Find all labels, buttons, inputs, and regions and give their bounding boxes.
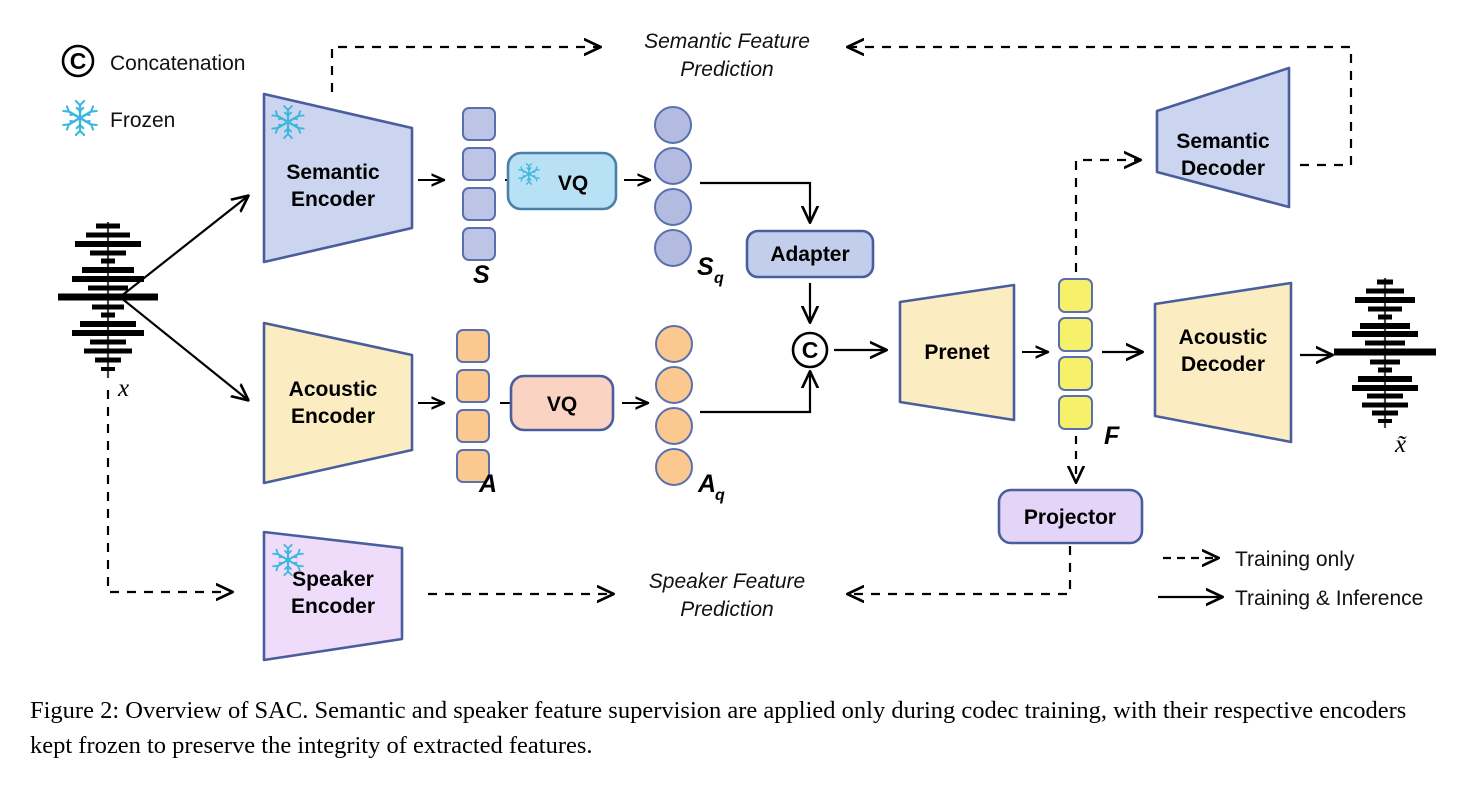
acoustic-encoder-shape[interactable] xyxy=(264,323,412,483)
prenet-block[interactable]: Prenet xyxy=(900,285,1014,420)
feature-token xyxy=(655,107,691,143)
training-only-label: Training only xyxy=(1235,548,1355,571)
semantic-feature-prediction-line1: Semantic Feature xyxy=(644,30,810,53)
adapter-block[interactable]: Adapter xyxy=(747,231,873,277)
feature-token xyxy=(655,148,691,184)
adapter-label: Adapter xyxy=(770,243,849,266)
input-waveform: x xyxy=(58,222,158,402)
semantic-encoder-label-line1: Semantic xyxy=(286,161,380,184)
projector-label: Projector xyxy=(1024,506,1116,529)
semantic-decoder-label-line2: Decoder xyxy=(1181,157,1265,180)
figure-canvas: C Concatenation Frozen x xyxy=(0,0,1473,803)
semantic-encoder-label-line2: Encoder xyxy=(291,188,375,211)
vq-semantic-block[interactable]: VQ xyxy=(508,153,616,209)
feature-token xyxy=(1059,279,1092,312)
speaker-feature-prediction-line1: Speaker Feature xyxy=(649,570,805,593)
feature-token xyxy=(1059,357,1092,390)
speaker-feature-prediction-line2: Prediction xyxy=(680,598,773,621)
acoustic-encoder-label-line1: Acoustic xyxy=(289,378,378,401)
feature-token xyxy=(457,410,489,442)
arrow-x-to-acoustic-encoder xyxy=(120,297,248,400)
legend-frozen: Frozen xyxy=(63,101,175,135)
concatenation-label: Concatenation xyxy=(110,52,245,75)
feature-token xyxy=(457,370,489,402)
feature-f-symbol: F xyxy=(1104,422,1120,450)
output-symbol: x̃ xyxy=(1394,431,1407,458)
feature-token xyxy=(655,189,691,225)
feature-token xyxy=(1059,318,1092,351)
feature-a-symbol: A xyxy=(478,470,497,498)
feature-token xyxy=(656,326,692,362)
feature-s-group: S xyxy=(463,108,495,289)
figure-caption: Figure 2: Overview of SAC. Semantic and … xyxy=(30,694,1445,764)
feature-a-group: A xyxy=(457,330,497,498)
vq-acoustic-block[interactable]: VQ xyxy=(511,376,613,430)
speaker-encoder-block[interactable]: Speaker Encoder xyxy=(264,532,402,660)
semantic-decoder-label-line1: Semantic xyxy=(1176,130,1270,153)
feature-sq-group: S q xyxy=(655,107,724,287)
output-waveform: x̃ xyxy=(1334,278,1436,458)
acoustic-decoder-label-line1: Acoustic xyxy=(1179,326,1268,349)
feature-aq-group: A q xyxy=(656,326,725,504)
frozen-label: Frozen xyxy=(110,109,175,132)
concatenation-glyph: C xyxy=(70,48,87,74)
acoustic-encoder-label-line2: Encoder xyxy=(291,405,375,428)
projector-block[interactable]: Projector xyxy=(999,490,1142,543)
semantic-feature-prediction-line2: Prediction xyxy=(680,58,773,81)
feature-token xyxy=(463,228,495,260)
input-symbol: x xyxy=(117,375,129,402)
legend-concatenation: C Concatenation xyxy=(63,46,245,76)
feature-sq-symbol: S xyxy=(697,253,714,281)
feature-s-symbol: S xyxy=(473,261,490,289)
legend-training-inference: Training & Inference xyxy=(1158,587,1423,610)
arrow-x-to-speaker-encoder xyxy=(108,390,232,592)
speaker-encoder-label-line1: Speaker xyxy=(292,568,374,591)
feature-token xyxy=(656,449,692,485)
acoustic-encoder-block[interactable]: Acoustic Encoder xyxy=(264,323,412,483)
legend-training-only: Training only xyxy=(1163,548,1355,571)
vq-acoustic-label: VQ xyxy=(547,393,577,416)
speaker-encoder-label-line2: Encoder xyxy=(291,595,375,618)
arrow-aq-to-concat xyxy=(700,372,810,412)
semantic-encoder-block[interactable]: Semantic Encoder xyxy=(264,94,412,262)
prenet-label: Prenet xyxy=(924,341,989,364)
feature-token xyxy=(463,148,495,180)
feature-token xyxy=(463,188,495,220)
arrow-semantic-encoder-to-prediction xyxy=(332,47,600,92)
feature-f-group: F xyxy=(1059,279,1120,450)
feature-aq-symbol: A xyxy=(697,470,716,498)
acoustic-decoder-block[interactable]: Acoustic Decoder xyxy=(1155,283,1291,442)
feature-aq-subscript: q xyxy=(715,487,725,504)
feature-token xyxy=(655,230,691,266)
feature-token xyxy=(463,108,495,140)
diagram-svg: C Concatenation Frozen x xyxy=(0,0,1473,803)
feature-token xyxy=(1059,396,1092,429)
feature-token xyxy=(656,367,692,403)
snowflake-icon xyxy=(63,101,96,135)
arrow-sq-to-adapter xyxy=(700,183,810,222)
training-inference-label: Training & Inference xyxy=(1235,587,1423,610)
feature-token xyxy=(656,408,692,444)
concatenation-glyph: C xyxy=(802,337,819,363)
feature-token xyxy=(457,330,489,362)
arrow-f-to-semantic-decoder xyxy=(1076,160,1140,272)
semantic-decoder-block[interactable]: Semantic Decoder xyxy=(1157,68,1289,207)
arrow-projector-to-speaker-prediction xyxy=(848,546,1070,594)
concatenation-node[interactable]: C xyxy=(793,333,827,367)
acoustic-decoder-label-line2: Decoder xyxy=(1181,353,1265,376)
vq-semantic-label: VQ xyxy=(558,172,588,195)
feature-sq-subscript: q xyxy=(714,270,724,287)
